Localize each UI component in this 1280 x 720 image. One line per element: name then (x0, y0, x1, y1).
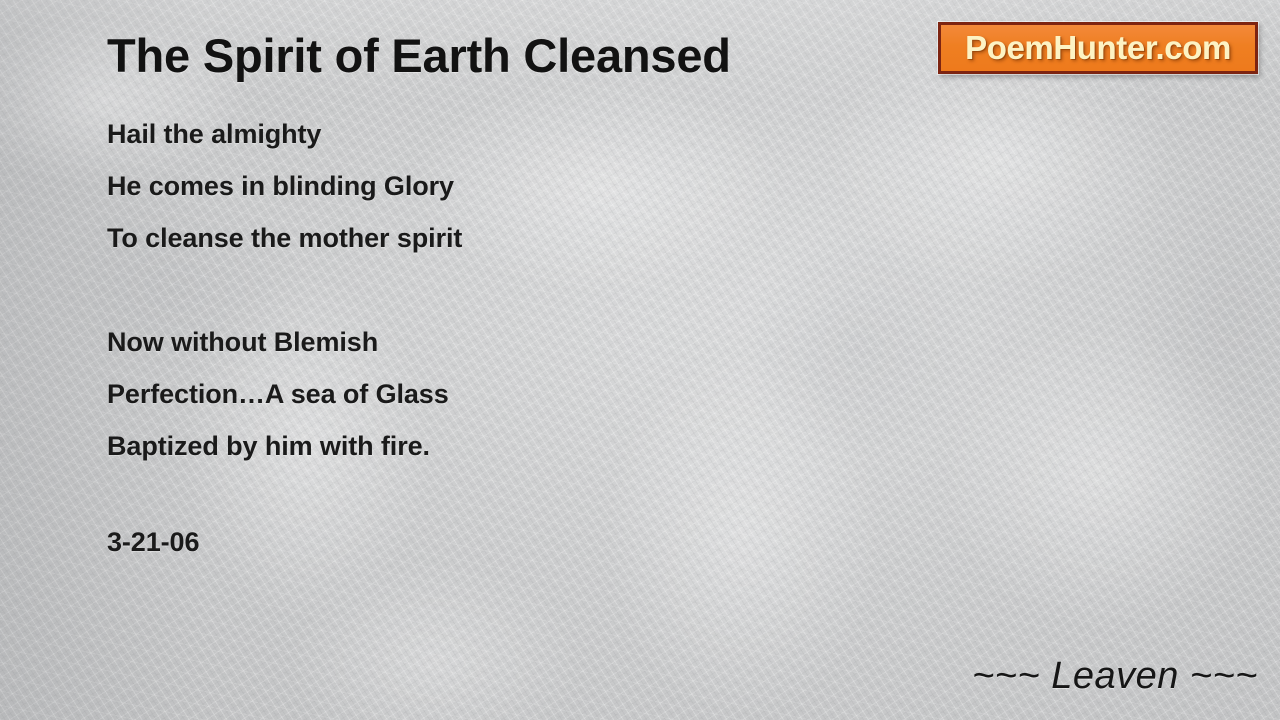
poem-line: Baptized by him with fire. (107, 420, 907, 472)
poem-stanza-break (107, 264, 907, 316)
page-title: The Spirit of Earth Cleansed (107, 28, 731, 83)
poem-line: Perfection…A sea of Glass (107, 368, 907, 420)
author-signature: ~~~ Leaven ~~~ (972, 655, 1258, 698)
poem-content: The Spirit of Earth Cleansed Hail the al… (0, 0, 1280, 720)
poemhunter-watermark-badge[interactable]: PoemHunter.com (938, 22, 1258, 74)
poem-line: He comes in blinding Glory (107, 160, 907, 212)
poem-body: Hail the almighty He comes in blinding G… (107, 108, 907, 472)
poemhunter-watermark-label: PoemHunter.com (965, 29, 1231, 67)
poem-line: Hail the almighty (107, 108, 907, 160)
poem-line: To cleanse the mother spirit (107, 212, 907, 264)
poem-line: Now without Blemish (107, 316, 907, 368)
poem-image-canvas: The Spirit of Earth Cleansed Hail the al… (0, 0, 1280, 720)
poem-date: 3-21-06 (107, 527, 199, 558)
